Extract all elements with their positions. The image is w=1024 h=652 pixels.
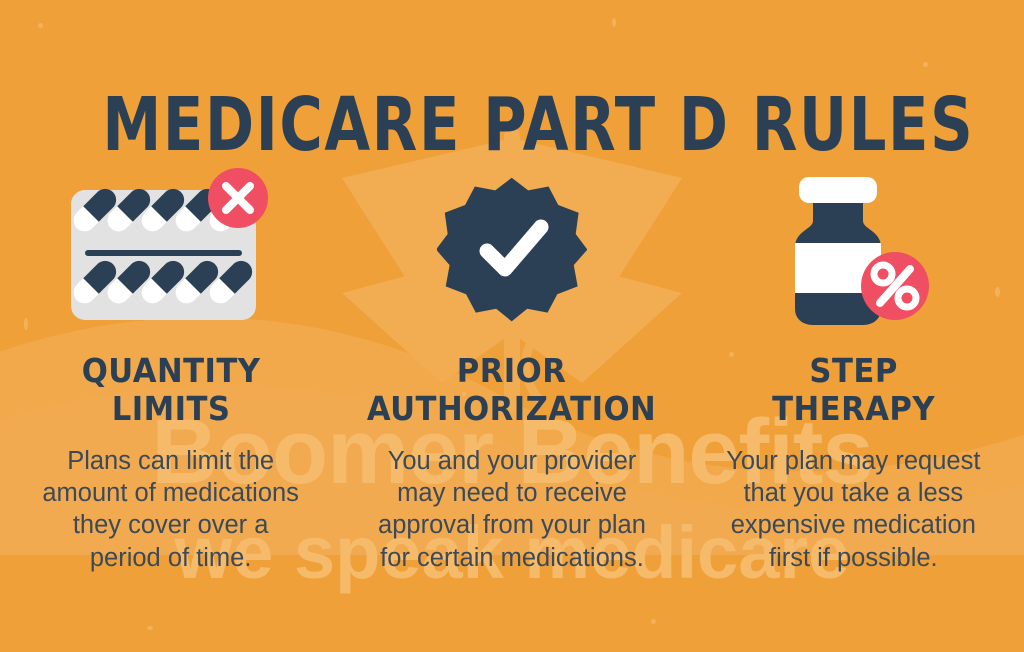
x-circle-icon <box>208 168 268 228</box>
pill-pack-icon <box>63 168 278 328</box>
heading-line: LIMITS <box>81 390 260 428</box>
rules-columns: QUANTITY LIMITS Plans can limit the amou… <box>0 160 1024 574</box>
page-title: MEDICARE PART D RULES <box>102 88 921 162</box>
rule-card-prior-authorization: PRIOR AUTHORIZATION You and your provide… <box>341 160 682 574</box>
check-badge-icon <box>437 173 587 323</box>
rule-body-prior-authorization: You and your provider may need to receiv… <box>362 445 662 574</box>
heading-line: QUANTITY <box>81 352 260 390</box>
rule-heading-step-therapy: STEP THERAPY <box>772 352 935 427</box>
check-badge-icon-wrap <box>437 160 587 335</box>
rule-body-quantity-limits: Plans can limit the amount of medication… <box>41 445 301 574</box>
rule-body-step-therapy: Your plan may request that you take a le… <box>708 445 998 574</box>
pill-bottle-icon-wrap <box>766 160 941 335</box>
rule-heading-quantity-limits: QUANTITY LIMITS <box>81 352 260 427</box>
heading-line: PRIOR <box>367 352 656 390</box>
pill-bottle-icon <box>766 165 941 330</box>
percent-circle-icon <box>861 252 929 320</box>
pill-pack-icon-wrap <box>63 160 278 335</box>
infographic-canvas: Boomer Benefits we speak medicare MEDICA… <box>0 0 1024 652</box>
heading-line: THERAPY <box>772 390 935 428</box>
rule-card-quantity-limits: QUANTITY LIMITS Plans can limit the amou… <box>0 160 341 574</box>
rule-card-step-therapy: STEP THERAPY Your plan may request that … <box>683 160 1024 574</box>
rule-heading-prior-authorization: PRIOR AUTHORIZATION <box>367 352 656 427</box>
heading-line: AUTHORIZATION <box>367 390 656 428</box>
heading-line: STEP <box>772 352 935 390</box>
